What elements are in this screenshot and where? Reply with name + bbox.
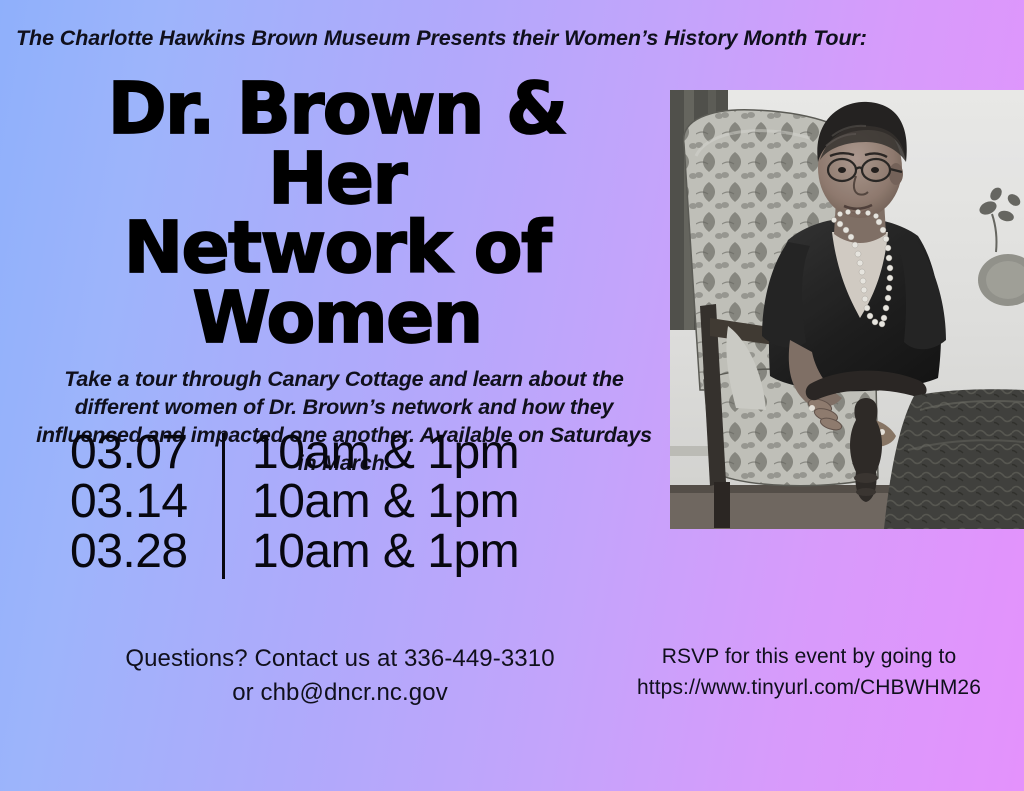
contact-email-line: or chb@dncr.nc.gov (60, 676, 620, 710)
poster-canvas: The Charlotte Hawkins Brown Museum Prese… (0, 0, 1024, 791)
portrait-photo (670, 90, 1024, 529)
title-line-3: Women (30, 283, 644, 353)
schedule-date: 03.28 (70, 527, 222, 576)
title-line-1: Dr. Brown & Her (30, 74, 644, 213)
contact-phone-line: Questions? Contact us at 336-449-3310 (60, 642, 620, 676)
schedule-date: 03.14 (70, 477, 222, 526)
rsvp-prompt-line: RSVP for this event by going to (600, 641, 1018, 672)
title-line-2: Network of (30, 213, 644, 283)
rsvp-info: RSVP for this event by going to https://… (600, 641, 1018, 703)
poster-left-column: Dr. Brown & Her Network of Women Take a … (0, 74, 666, 478)
poster-header-line: The Charlotte Hawkins Brown Museum Prese… (16, 26, 916, 51)
schedule-times: 10am & 1pm (240, 428, 519, 477)
portrait-photo-graphic (670, 90, 1024, 529)
schedule-divider-rule (222, 433, 225, 579)
schedule-date: 03.07 (70, 428, 222, 477)
tour-schedule: 03.07 10am & 1pm 03.14 10am & 1pm 03.28 … (70, 428, 519, 576)
schedule-times: 10am & 1pm (240, 527, 519, 576)
rsvp-url[interactable]: https://www.tinyurl.com/CHBWHM26 (600, 672, 1018, 703)
schedule-times: 10am & 1pm (240, 477, 519, 526)
contact-info: Questions? Contact us at 336-449-3310 or… (60, 642, 620, 710)
page-title: Dr. Brown & Her Network of Women (0, 74, 666, 352)
